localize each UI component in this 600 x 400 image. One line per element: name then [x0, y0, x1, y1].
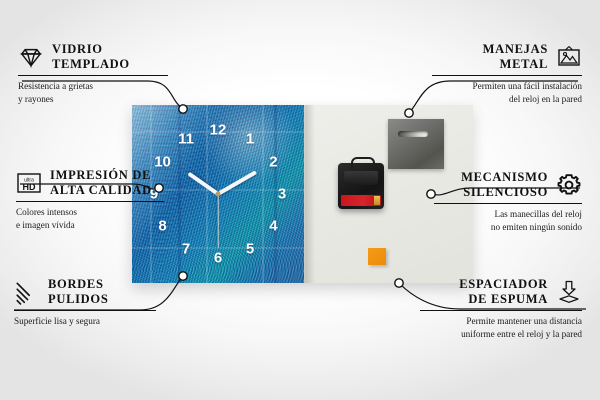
- desc-line-2: no emiten ningún sonido: [491, 222, 582, 232]
- title-line-2: TEMPLADO: [52, 57, 130, 71]
- second-hand: [217, 194, 218, 248]
- callout-vidrio-templado: VIDRIO TEMPLADO Resistencia a grietas y …: [18, 42, 168, 105]
- clock-numeral-11: 11: [178, 131, 194, 146]
- title-line-2: METAL: [500, 57, 548, 71]
- title-line-1: VIDRIO: [52, 42, 103, 56]
- desc-line-1: Permite mantener una distancia: [466, 316, 582, 326]
- callout-title: BORDES PULIDOS: [48, 277, 108, 307]
- callout-rule: [16, 201, 164, 203]
- callout-title: MECANISMO SILENCIOSO: [461, 170, 548, 200]
- title-line-2: SILENCIOSO: [463, 185, 548, 199]
- title-line-1: ESPACIADOR: [459, 277, 548, 291]
- callout-desc: Superficie lisa y segura: [14, 315, 156, 327]
- desc-line-1: Permiten una fácil instalación: [473, 81, 582, 91]
- title-line-2: ALTA CALIDAD: [50, 183, 152, 197]
- callout-desc: Colores intensos e imagen vívida: [16, 206, 164, 231]
- panel-edge-shadow: [305, 105, 315, 283]
- gear-icon: [556, 172, 582, 198]
- callout-desc: Resistencia a grietas y rayones: [18, 80, 168, 105]
- desc-line-2: uniforme entre el reloj y la pared: [461, 329, 582, 339]
- mechanism-detail: [344, 171, 378, 185]
- desc-line-2: del reloj en la pared: [509, 94, 582, 104]
- desc-line-1: Las manecillas del reloj: [494, 209, 582, 219]
- desc-line-2: e imagen vívida: [16, 220, 75, 230]
- callout-rule: [434, 203, 582, 205]
- metal-hanger-plate: [388, 119, 444, 169]
- infographic-canvas: 123456789101112: [0, 0, 600, 400]
- polished-edges-icon: [14, 279, 40, 305]
- ultra-hd-icon: ultra HD: [16, 170, 42, 196]
- callout-mecanismo-silencioso: MECANISMO SILENCIOSO Las manecillas del …: [434, 170, 582, 233]
- callout-desc: Permite mantener una distancia uniforme …: [420, 315, 582, 340]
- title-line-1: BORDES: [48, 277, 104, 291]
- clock-numeral-6: 6: [214, 251, 222, 266]
- clock-numeral-4: 4: [269, 219, 277, 234]
- clock-numeral-5: 5: [246, 242, 254, 257]
- title-line-1: MANEJAS: [483, 42, 548, 56]
- title-line-1: MECANISMO: [461, 170, 548, 184]
- clock-numeral-1: 1: [246, 131, 254, 146]
- hanger-slot: [398, 131, 428, 137]
- product-photo: 123456789101112: [132, 105, 472, 283]
- callout-rule: [18, 75, 168, 77]
- clock-mechanism: [338, 163, 384, 209]
- callout-espaciador-espuma: ESPACIADOR DE ESPUMA Permite mantener un…: [420, 277, 582, 340]
- callout-title: ESPACIADOR DE ESPUMA: [459, 277, 548, 307]
- title-line-1: IMPRESIÓN DE: [50, 168, 151, 182]
- callout-desc: Las manecillas del reloj no emiten ningú…: [434, 208, 582, 233]
- clock-numeral-12: 12: [210, 123, 227, 138]
- foam-spacer-icon: [556, 279, 582, 305]
- callout-rule: [14, 310, 156, 312]
- svg-text:HD: HD: [23, 182, 36, 192]
- clock-numeral-7: 7: [182, 242, 190, 257]
- callout-rule: [420, 310, 582, 312]
- clock-numeral-2: 2: [269, 155, 277, 170]
- title-line-2: DE ESPUMA: [468, 292, 548, 306]
- clock-numeral-3: 3: [278, 187, 286, 202]
- wall-frame-icon: [556, 44, 582, 70]
- callout-bordes-pulidos: BORDES PULIDOS Superficie lisa y segura: [14, 277, 156, 328]
- callout-manejas-metal: MANEJAS METAL Permiten una fácil instala…: [432, 42, 582, 105]
- desc-line-1: Colores intensos: [16, 207, 77, 217]
- foam-spacer: [368, 248, 386, 265]
- desc-line-1: Resistencia a grietas: [18, 81, 93, 91]
- callout-impresion-alta-calidad: ultra HD IMPRESIÓN DE ALTA CALIDAD Color…: [16, 168, 164, 231]
- desc-line-2: y rayones: [18, 94, 53, 104]
- mechanism-gold-tab: [374, 196, 380, 205]
- title-line-2: PULIDOS: [48, 292, 108, 306]
- clock-center-cap: [216, 192, 221, 197]
- callout-desc: Permiten una fácil instalación del reloj…: [432, 80, 582, 105]
- mechanism-loop: [351, 157, 375, 169]
- callout-title: IMPRESIÓN DE ALTA CALIDAD: [50, 168, 152, 198]
- callout-rule: [432, 75, 582, 77]
- diamond-icon: [18, 44, 44, 70]
- desc-line-1: Superficie lisa y segura: [14, 316, 100, 326]
- callout-title: MANEJAS METAL: [483, 42, 548, 72]
- callout-title: VIDRIO TEMPLADO: [52, 42, 130, 72]
